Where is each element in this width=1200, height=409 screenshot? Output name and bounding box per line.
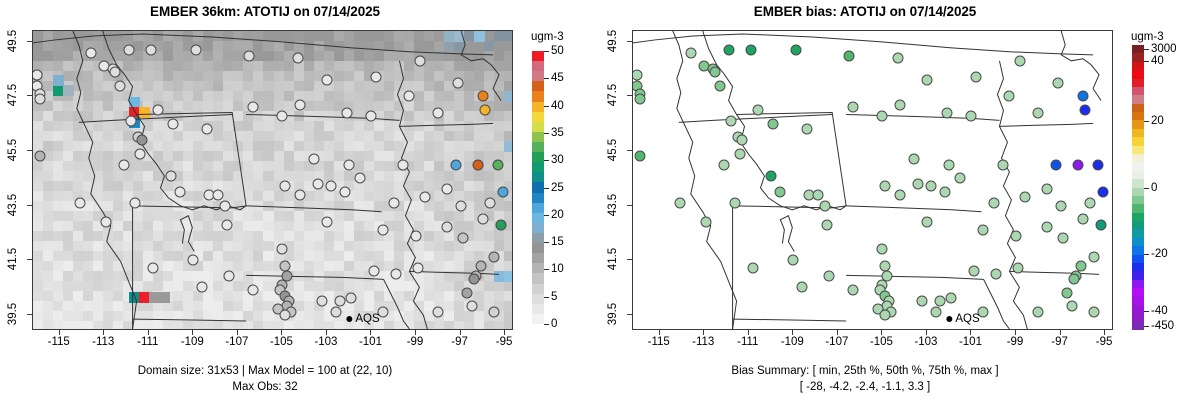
aqs-dot-icon: [946, 316, 952, 322]
colorbar-tick: [544, 51, 549, 52]
colorbar-band: [1132, 296, 1144, 305]
monitor-point[interactable]: [1051, 159, 1062, 170]
monitor-point[interactable]: [1033, 306, 1044, 317]
monitor-point[interactable]: [1013, 263, 1024, 274]
monitor-point[interactable]: [248, 285, 259, 296]
monitor-point[interactable]: [497, 186, 508, 197]
monitor-point[interactable]: [1019, 192, 1030, 203]
colorbar-band: [532, 71, 544, 82]
colorbar-band: [1132, 170, 1144, 179]
monitor-point[interactable]: [879, 260, 890, 271]
y-tick: [27, 41, 32, 42]
monitor-point[interactable]: [34, 151, 45, 162]
bias-points-right: [633, 31, 1112, 329]
monitor-point[interactable]: [734, 148, 745, 159]
x-tick: [970, 330, 971, 335]
monitor-point[interactable]: [714, 80, 725, 91]
monitor-point[interactable]: [997, 159, 1008, 170]
monitor-point[interactable]: [968, 266, 979, 277]
monitor-point[interactable]: [674, 197, 685, 208]
monitor-point[interactable]: [453, 77, 464, 88]
monitor-point[interactable]: [797, 282, 808, 293]
monitor-point[interactable]: [1075, 260, 1086, 271]
monitor-point[interactable]: [946, 293, 957, 304]
monitor-point[interactable]: [819, 200, 830, 211]
monitor-point[interactable]: [32, 69, 43, 80]
colorbar-tick-label: 20: [551, 209, 564, 221]
monitor-point[interactable]: [125, 116, 136, 127]
monitor-point[interactable]: [366, 110, 377, 121]
x-tick-label: -115: [48, 336, 70, 348]
monitor-point[interactable]: [468, 274, 479, 285]
monitor-point[interactable]: [134, 148, 145, 159]
y-tick: [627, 314, 632, 315]
monitor-point[interactable]: [1095, 219, 1106, 230]
monitor-point[interactable]: [419, 192, 430, 203]
x-tick: [1015, 330, 1016, 335]
monitor-point[interactable]: [955, 173, 966, 184]
monitor-point[interactable]: [457, 233, 468, 244]
monitor-point[interactable]: [788, 255, 799, 266]
x-tick-label: -111: [137, 336, 158, 348]
colorbar-tick-label: 0: [1151, 182, 1157, 194]
colorbar-band: [532, 273, 544, 284]
colorbar-band: [1132, 111, 1144, 120]
colorbar-band: [1132, 262, 1144, 271]
monitor-point[interactable]: [1053, 77, 1064, 88]
monitor-point[interactable]: [442, 222, 453, 233]
monitor-point[interactable]: [85, 47, 96, 58]
y-tick: [27, 205, 32, 206]
monitor-point[interactable]: [988, 197, 999, 208]
aqs-legend-right: AQS: [946, 313, 979, 325]
x-tick: [837, 330, 838, 335]
colorbar-tick-label: 15: [551, 236, 564, 248]
monitor-point[interactable]: [879, 309, 890, 320]
colorbar-band: [532, 253, 544, 264]
colorbar-band: [532, 81, 544, 92]
colorbar-band: [532, 172, 544, 183]
monitor-point[interactable]: [719, 159, 730, 170]
monitor-point[interactable]: [123, 45, 134, 56]
colorbar-band: [1132, 179, 1144, 188]
y-tick-label: 49.5: [7, 30, 19, 52]
monitor-point[interactable]: [34, 94, 45, 105]
aqs-legend-label: AQS: [355, 313, 379, 325]
colorbar-tick: [1144, 188, 1149, 189]
monitor-point[interactable]: [892, 53, 903, 64]
x-tick: [326, 330, 327, 335]
monitor-point[interactable]: [495, 219, 506, 230]
monitor-point[interactable]: [990, 268, 1001, 279]
y-tick-label: 47.5: [607, 84, 619, 106]
monitor-point[interactable]: [174, 186, 185, 197]
colorbar-band: [532, 141, 544, 152]
y-tick-label: 41.5: [607, 248, 619, 270]
monitor-point[interactable]: [877, 110, 888, 121]
monitor-point[interactable]: [101, 216, 112, 227]
caption-left-1: Domain size: 31x53 | Max Model = 100 at …: [0, 365, 530, 377]
monitor-point[interactable]: [344, 159, 355, 170]
monitor-point[interactable]: [326, 181, 337, 192]
x-tick: [281, 330, 282, 335]
monitor-point[interactable]: [768, 118, 779, 129]
monitor-point[interactable]: [152, 105, 163, 116]
y-tick-label: 45.5: [7, 139, 19, 161]
colorbar-band: [1132, 95, 1144, 104]
y-tick-label: 45.5: [607, 139, 619, 161]
monitor-point[interactable]: [1097, 186, 1108, 197]
monitor-point[interactable]: [466, 301, 477, 312]
panel-model: EMBER 36km: ATOTIJ on 07/14/2025 AQS -11…: [0, 0, 600, 409]
monitor-point[interactable]: [1073, 159, 1084, 170]
y-tick: [27, 95, 32, 96]
colorbar-tick-label: 40: [551, 100, 564, 112]
colorbar-band: [1132, 128, 1144, 137]
monitor-point[interactable]: [355, 173, 366, 184]
monitor-point[interactable]: [801, 124, 812, 135]
monitor-point[interactable]: [388, 197, 399, 208]
monitor-point[interactable]: [908, 154, 919, 165]
y-tick: [27, 259, 32, 260]
monitor-point[interactable]: [746, 45, 757, 56]
colorbar-band: [1132, 61, 1144, 70]
monitor-point[interactable]: [148, 263, 159, 274]
monitor-point[interactable]: [634, 151, 645, 162]
colorbar-band: [532, 61, 544, 72]
map-plot-bias[interactable]: AQS: [632, 30, 1113, 330]
monitor-point[interactable]: [335, 296, 346, 307]
monitor-point[interactable]: [368, 266, 379, 277]
colorbar-band: [1132, 229, 1144, 238]
monitor-point[interactable]: [1055, 200, 1066, 211]
monitor-point[interactable]: [341, 107, 352, 118]
monitor-point[interactable]: [473, 159, 484, 170]
colorbar-band: [1132, 103, 1144, 112]
monitor-point[interactable]: [632, 69, 643, 80]
x-tick-label: -101: [959, 336, 982, 348]
monitor-point[interactable]: [774, 186, 785, 197]
colorbar-tick-label: -40: [1151, 305, 1168, 317]
monitor-point[interactable]: [212, 189, 223, 200]
monitor-point[interactable]: [917, 296, 928, 307]
monitor-point[interactable]: [475, 260, 486, 271]
monitor-point[interactable]: [823, 271, 834, 282]
y-tick: [627, 259, 632, 260]
x-tick: [415, 330, 416, 335]
colorbar-band: [1132, 195, 1144, 204]
monitor-point[interactable]: [895, 99, 906, 110]
monitor-point[interactable]: [1077, 91, 1088, 102]
x-tick-label: -113: [692, 336, 714, 348]
x-tick-label: -107: [825, 336, 848, 348]
colorbar-tick: [1144, 311, 1149, 312]
monitor-point[interactable]: [1068, 274, 1079, 285]
monitor-point[interactable]: [244, 50, 255, 61]
monitor-point[interactable]: [346, 293, 357, 304]
monitor-point[interactable]: [413, 263, 424, 274]
colorbar-band: [1132, 70, 1144, 79]
monitor-point[interactable]: [330, 306, 341, 317]
colorbar-band: [1132, 271, 1144, 280]
colorbar-tick: [544, 215, 549, 216]
monitor-point[interactable]: [723, 45, 734, 56]
colorbar-band: [532, 182, 544, 193]
x-tick: [59, 330, 60, 335]
monitor-point[interactable]: [130, 197, 141, 208]
monitor-point[interactable]: [1033, 107, 1044, 118]
monitor-point[interactable]: [930, 306, 941, 317]
y-tick-label: 49.5: [607, 30, 619, 52]
monitor-point[interactable]: [970, 72, 981, 83]
monitor-point[interactable]: [844, 50, 855, 61]
monitor-point[interactable]: [1093, 159, 1104, 170]
monitor-point[interactable]: [921, 75, 932, 86]
colorbar-band: [532, 212, 544, 223]
monitor-point[interactable]: [279, 181, 290, 192]
x-tick-label: -99: [1007, 336, 1024, 348]
y-tick: [627, 150, 632, 151]
colorbar-band: [532, 263, 544, 274]
monitor-point[interactable]: [748, 263, 759, 274]
monitor-point[interactable]: [277, 110, 288, 121]
monitor-point[interactable]: [433, 306, 444, 317]
x-tick: [1104, 330, 1105, 335]
monitor-point[interactable]: [634, 94, 645, 105]
monitor-point[interactable]: [1088, 252, 1099, 263]
monitor-point[interactable]: [913, 178, 924, 189]
colorbar-band: [1132, 78, 1144, 87]
monitor-point[interactable]: [895, 189, 906, 200]
monitor-point[interactable]: [119, 159, 130, 170]
monitor-point[interactable]: [685, 47, 696, 58]
colorbar-band: [1132, 53, 1144, 62]
monitor-point[interactable]: [1004, 91, 1015, 102]
colorbar-band: [532, 162, 544, 173]
monitor-point[interactable]: [944, 159, 955, 170]
colorbar-band: [1132, 220, 1144, 229]
monitor-point[interactable]: [1011, 230, 1022, 241]
monitor-point[interactable]: [1015, 56, 1026, 67]
colorbar-right[interactable]: [1132, 45, 1144, 330]
monitor-point[interactable]: [279, 260, 290, 271]
monitor-point[interactable]: [114, 80, 125, 91]
monitor-point[interactable]: [725, 116, 736, 127]
monitor-point[interactable]: [766, 170, 777, 181]
colorbar-tick: [1144, 326, 1149, 327]
colorbar-tick-label: 20: [1151, 115, 1164, 127]
monitor-point[interactable]: [415, 56, 426, 67]
figure-root: EMBER 36km: ATOTIJ on 07/14/2025 AQS -11…: [0, 0, 1200, 409]
monitor-point[interactable]: [411, 230, 422, 241]
colorbar-band: [1132, 212, 1144, 221]
colorbar-band: [532, 222, 544, 233]
monitor-point[interactable]: [821, 219, 832, 230]
colorbar-band: [1132, 246, 1144, 255]
monitor-point[interactable]: [433, 107, 444, 118]
colorbar-tick: [544, 297, 549, 298]
monitor-point[interactable]: [1066, 301, 1077, 312]
monitor-point[interactable]: [935, 296, 946, 307]
monitor-point[interactable]: [190, 45, 201, 56]
monitor-point[interactable]: [477, 91, 488, 102]
colorbar-band: [532, 101, 544, 112]
x-tick: [237, 330, 238, 335]
monitor-point[interactable]: [977, 225, 988, 236]
monitor-point[interactable]: [877, 244, 888, 255]
x-tick: [504, 330, 505, 335]
monitor-point[interactable]: [477, 214, 488, 225]
x-tick-label: -109: [781, 336, 804, 348]
x-tick: [792, 330, 793, 335]
monitor-point[interactable]: [295, 99, 306, 110]
colorbar-band: [532, 91, 544, 102]
colorbar-band: [1132, 162, 1144, 171]
monitor-point[interactable]: [166, 170, 177, 181]
monitor-point[interactable]: [1084, 197, 1095, 208]
colorbar-tick: [1144, 254, 1149, 255]
monitor-point[interactable]: [939, 186, 950, 197]
monitor-point[interactable]: [390, 268, 401, 279]
monitor-point[interactable]: [321, 216, 332, 227]
caption-left-2: Max Obs: 32: [0, 381, 530, 393]
aqs-legend-label: AQS: [955, 313, 979, 325]
monitor-point[interactable]: [1042, 184, 1053, 195]
x-tick: [748, 330, 749, 335]
monitor-point[interactable]: [812, 189, 823, 200]
monitor-point[interactable]: [1080, 105, 1091, 116]
x-tick: [460, 330, 461, 335]
monitor-point[interactable]: [790, 45, 801, 56]
x-tick-label: -109: [181, 336, 204, 348]
colorbar-band: [1132, 86, 1144, 95]
monitor-point[interactable]: [404, 91, 415, 102]
monitor-point[interactable]: [223, 271, 234, 282]
monitor-point[interactable]: [277, 244, 288, 255]
monitor-point[interactable]: [168, 118, 179, 129]
aqs-dot-icon: [346, 316, 352, 322]
monitor-point[interactable]: [848, 285, 859, 296]
monitor-point[interactable]: [292, 53, 303, 64]
monitor-point[interactable]: [879, 181, 890, 192]
colorbar-band: [532, 152, 544, 163]
monitor-point[interactable]: [317, 296, 328, 307]
monitor-point[interactable]: [279, 309, 290, 320]
x-tick-label: -95: [1096, 336, 1113, 348]
monitor-point[interactable]: [137, 135, 148, 146]
monitor-point[interactable]: [370, 72, 381, 83]
colorbar-band: [1132, 254, 1144, 263]
monitor-point[interactable]: [146, 45, 157, 56]
monitor-point[interactable]: [1088, 306, 1099, 317]
monitor-point[interactable]: [941, 107, 952, 118]
colorbar-band: [532, 303, 544, 314]
monitor-point[interactable]: [451, 159, 462, 170]
colorbar-band: [532, 283, 544, 294]
monitor-point[interactable]: [295, 189, 306, 200]
colorbar-band: [532, 131, 544, 142]
colorbar-left[interactable]: [532, 51, 544, 324]
colorbar-tick-label: 5: [551, 291, 557, 303]
monitor-point[interactable]: [321, 75, 332, 86]
monitor-point[interactable]: [730, 197, 741, 208]
monitor-point[interactable]: [966, 110, 977, 121]
colorbar-band: [1132, 204, 1144, 213]
monitor-point[interactable]: [484, 197, 495, 208]
x-tick: [370, 330, 371, 335]
x-tick-label: -105: [870, 336, 893, 348]
monitor-point[interactable]: [488, 306, 499, 317]
caption-right-1: Bias Summary: [ min, 25th %, 50th %, 75t…: [600, 365, 1130, 377]
colorbar-band: [532, 121, 544, 132]
page-title-left: EMBER 36km: ATOTIJ on 07/14/2025: [0, 4, 530, 19]
monitor-point[interactable]: [188, 255, 199, 266]
monitor-point[interactable]: [74, 197, 85, 208]
monitor-point[interactable]: [1077, 214, 1088, 225]
monitor-point[interactable]: [197, 282, 208, 293]
colorbar-band: [1132, 237, 1144, 246]
monitor-point[interactable]: [737, 135, 748, 146]
monitor-point[interactable]: [1057, 233, 1068, 244]
y-tick: [627, 205, 632, 206]
colorbar-band: [1132, 145, 1144, 154]
colorbar-tick-label: -20: [1151, 248, 1168, 260]
x-tick: [192, 330, 193, 335]
monitor-point[interactable]: [313, 178, 324, 189]
x-tick-label: -107: [225, 336, 248, 348]
monitor-point[interactable]: [1042, 222, 1053, 233]
monitor-point[interactable]: [221, 219, 232, 230]
monitor-point[interactable]: [377, 225, 388, 236]
x-tick-label: -99: [407, 336, 424, 348]
monitor-point[interactable]: [462, 287, 473, 298]
colorbar-band: [1132, 137, 1144, 146]
monitor-point[interactable]: [480, 105, 491, 116]
monitor-point[interactable]: [110, 66, 121, 77]
monitor-point[interactable]: [701, 216, 712, 227]
monitor-point[interactable]: [248, 102, 259, 113]
map-plot-model[interactable]: AQS: [32, 30, 513, 330]
monitor-point[interactable]: [308, 154, 319, 165]
monitor-point[interactable]: [219, 200, 230, 211]
obs-points-left: [33, 31, 512, 329]
monitor-point[interactable]: [926, 181, 937, 192]
monitor-point[interactable]: [710, 66, 721, 77]
colorbar-tick: [544, 160, 549, 161]
monitor-point[interactable]: [201, 124, 212, 135]
monitor-point[interactable]: [455, 200, 466, 211]
monitor-point[interactable]: [339, 186, 350, 197]
y-tick: [27, 150, 32, 151]
monitor-point[interactable]: [1062, 287, 1073, 298]
monitor-point[interactable]: [442, 184, 453, 195]
monitor-point[interactable]: [397, 159, 408, 170]
colorbar-band: [532, 51, 544, 61]
colorbar-band: [532, 313, 544, 324]
y-tick: [627, 95, 632, 96]
colorbar-band: [532, 202, 544, 213]
monitor-point[interactable]: [488, 252, 499, 263]
colorbar-band: [1132, 304, 1144, 313]
monitor-point[interactable]: [921, 216, 932, 227]
x-tick-label: -103: [314, 336, 337, 348]
monitor-point[interactable]: [493, 159, 504, 170]
monitor-point[interactable]: [848, 102, 859, 113]
x-tick-label: -113: [92, 336, 114, 348]
x-tick-label: -105: [270, 336, 293, 348]
colorbar-tick: [544, 269, 549, 270]
monitor-point[interactable]: [752, 105, 763, 116]
